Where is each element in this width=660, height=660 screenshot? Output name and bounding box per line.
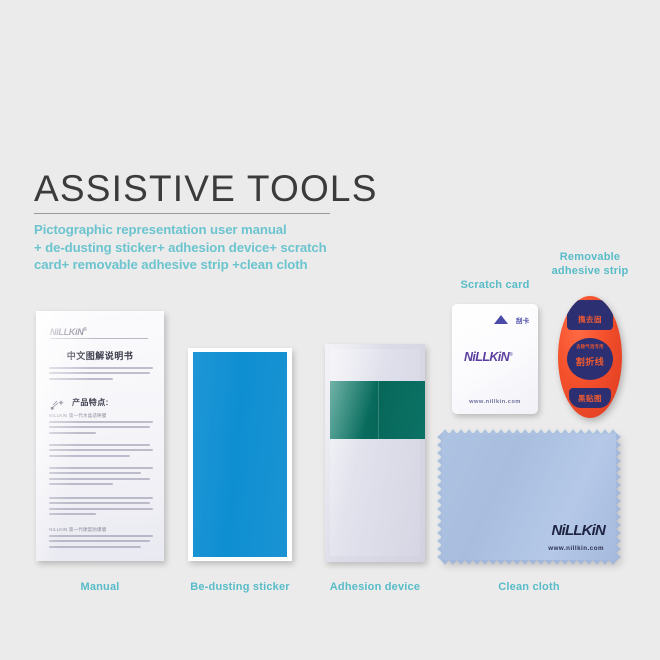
manual-footer-note: NILLKIN 第一代硬度防爆膜 — [49, 527, 106, 533]
sticker-blue-face — [193, 352, 287, 557]
caption-removable-adhesive-strip: Removable adhesive strip — [540, 250, 640, 278]
adhesion-device — [325, 344, 425, 562]
caption-manual: Manual — [36, 580, 164, 594]
adhesion-gloss — [325, 344, 425, 562]
cloth-brand-logo: NiLLKiN — [551, 522, 605, 539]
feature-icon — [50, 397, 68, 408]
manual-paragraph-2 — [49, 421, 153, 437]
removable-adhesive-strip: 擕去固 去除气泡专用 割折线 黑贴图 — [558, 296, 622, 418]
caption-clean-cloth: Clean cloth — [441, 580, 617, 594]
be-dusting-sticker — [188, 348, 292, 561]
manual-paragraph-6 — [49, 535, 153, 551]
trademark-icon: ® — [83, 327, 86, 333]
cloth-edge-bottom — [441, 560, 617, 565]
strip-top-label: 擕去固 — [567, 300, 613, 330]
strip-cap-text: 擕去固 — [567, 314, 613, 325]
strip-disc-text: 割折线 — [567, 355, 613, 368]
subtitle-line-1: Pictographic representation user manual — [34, 221, 364, 239]
cloth-edge-left — [437, 433, 442, 561]
caption-strip-line-1: Removable — [560, 251, 621, 263]
subtitle-line-3: card+ removable adhesive strip +clean cl… — [34, 256, 364, 274]
title-underline — [34, 213, 330, 214]
scratch-card: 刮卡 NiLLKiN® www.nillkin.com — [452, 304, 538, 414]
manual-section-heading: 产品特点: — [72, 397, 109, 408]
manual-paragraph-5 — [49, 497, 153, 519]
strip-foot-text: 黑贴图 — [569, 393, 611, 404]
sparkle-icon — [50, 399, 68, 410]
scratch-card-brand-text: NiLLKiN — [464, 350, 509, 364]
manual-logo-rule — [50, 338, 148, 339]
manual-paragraph-1 — [49, 367, 153, 383]
manual-sub-note: NILLKIN 第一代水晶适映膜 — [49, 413, 106, 419]
manual-brand-logo: NiLLKiN® — [50, 327, 124, 336]
caption-adhesion-device: Adhesion device — [325, 580, 425, 594]
triangle-icon — [494, 315, 508, 324]
page-title: ASSISTIVE TOOLS — [34, 168, 364, 210]
clean-cloth: NiLLKiN www.nillkin.com — [441, 433, 617, 561]
product-manual: NiLLKiN® 中文图解说明书 产品特点: NILLKIN 第一代水晶适映膜 — [36, 311, 164, 561]
scratch-card-brand-logo: NiLLKiN® — [464, 349, 528, 363]
product-graphic: ASSISTIVE TOOLS Pictographic representat… — [0, 0, 660, 660]
manual-brand-text: NiLLKiN — [50, 327, 83, 337]
subtitle-line-2: + de-dusting sticker+ adhesion device+ s… — [34, 239, 364, 257]
strip-bottom-label: 黑贴图 — [569, 388, 611, 408]
trademark-icon: ® — [509, 352, 512, 358]
caption-be-dusting-sticker: Be-dusting sticker — [188, 580, 292, 594]
manual-paragraph-3 — [49, 444, 153, 460]
caption-scratch-card: Scratch card — [452, 278, 538, 292]
manual-doc-title: 中文图解说明书 — [36, 349, 164, 362]
manual-paragraph-4 — [49, 467, 153, 489]
cloth-edge-right — [616, 433, 621, 561]
header-block: ASSISTIVE TOOLS Pictographic representat… — [34, 168, 364, 274]
scratch-card-cn-label: 刮卡 — [516, 315, 530, 325]
cloth-edge-top — [441, 429, 617, 434]
scratch-card-url: www.nillkin.com — [452, 399, 538, 405]
strip-center-disc: 去除气泡专用 割折线 — [567, 338, 613, 380]
subtitle: Pictographic representation user manual … — [34, 221, 364, 274]
cloth-url: www.nillkin.com — [548, 545, 604, 552]
strip-disc-top-text: 去除气泡专用 — [567, 344, 613, 350]
caption-strip-line-2: adhesive strip — [552, 265, 629, 277]
